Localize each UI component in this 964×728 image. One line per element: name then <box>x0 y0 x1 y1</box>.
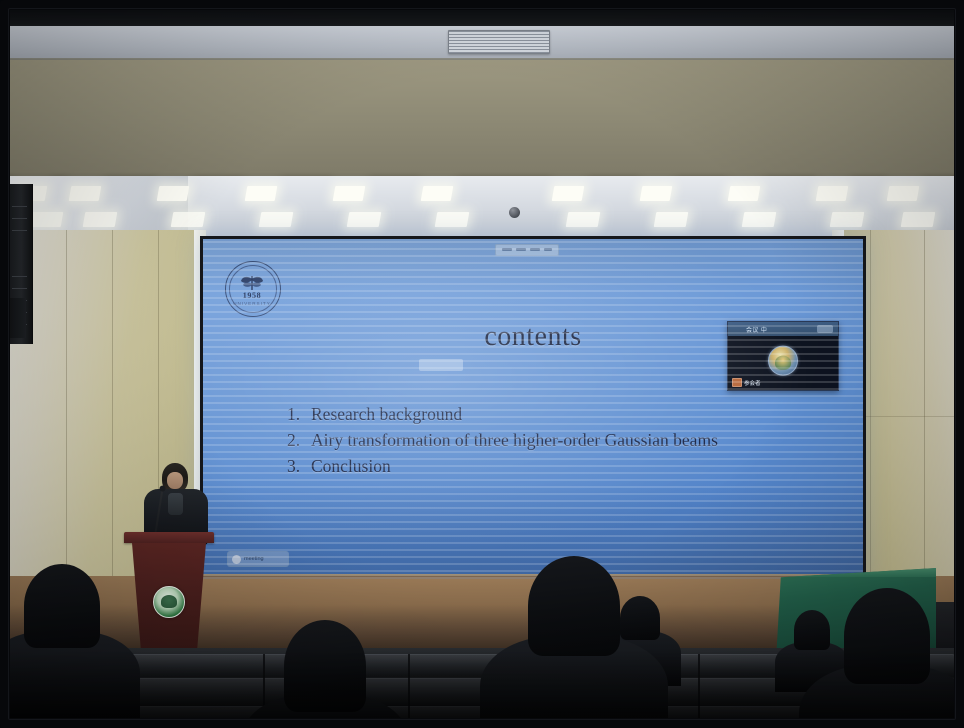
podium <box>126 532 212 650</box>
ceiling-light-panel <box>654 212 689 227</box>
slide-contents-list: 1.Research background2.Airy transformati… <box>287 401 847 479</box>
slide-list-item-text: Conclusion <box>311 453 391 479</box>
slide-list-item-text: Airy transformation of three higher-orde… <box>311 427 718 453</box>
taskbar-app-icon <box>232 555 241 564</box>
slide-list-item-number: 1. <box>287 401 311 427</box>
projection-screen: 1958 UNIVERSITY contents 1.Research back… <box>200 236 866 582</box>
ceiling-light-panel <box>887 186 920 201</box>
ceiling-light-panel <box>435 212 470 227</box>
auditorium-room: 1958 UNIVERSITY contents 1.Research back… <box>8 8 956 720</box>
ceiling-light-panel <box>901 212 936 227</box>
pip-video-area[interactable]: 参会者 <box>728 336 838 390</box>
slide-list-item: 1.Research background <box>287 401 847 427</box>
audience-head <box>844 588 930 684</box>
ceiling-light-panel <box>259 212 294 227</box>
pip-badge-icon <box>732 378 742 387</box>
presentation-toolbar[interactable] <box>495 244 559 256</box>
pip-participant-label: 参会者 <box>732 378 761 387</box>
slide-list-item-number: 3. <box>287 453 311 479</box>
presenter <box>142 463 212 543</box>
ceiling-light-panel <box>245 186 278 201</box>
taskbar-chip-label: meeting <box>244 556 264 562</box>
audience-head <box>620 596 660 640</box>
avatar <box>768 346 798 376</box>
ceiling-light-panel <box>640 186 673 201</box>
seal-arc-text: UNIVERSITY <box>225 301 279 306</box>
upper-wall <box>8 60 956 180</box>
pip-participant-name: 参会者 <box>744 379 761 387</box>
slide-list-item-number: 2. <box>287 427 311 453</box>
ceiling-light-panel <box>830 212 865 227</box>
ceiling-light-panel <box>333 186 366 201</box>
air-vent-icon <box>448 30 550 54</box>
ceiling-light-panel <box>742 212 777 227</box>
wall-equipment-icon <box>8 298 26 338</box>
ceiling-light-panel <box>566 212 601 227</box>
pip-title-bar[interactable]: 会议 中 <box>728 322 838 336</box>
university-seal-icon: 1958 UNIVERSITY <box>225 261 279 315</box>
audience-head <box>24 564 100 648</box>
pip-window-controls-icon[interactable] <box>817 325 833 333</box>
podium-emblem-icon <box>153 586 185 618</box>
ceiling-sensor-icon <box>509 207 520 218</box>
slide-placeholder-box <box>419 359 463 371</box>
taskbar-chip[interactable]: meeting <box>227 551 289 567</box>
ceiling-light-panel <box>29 212 64 227</box>
ceiling-light-panel <box>171 212 206 227</box>
ceiling-light-panel <box>552 186 585 201</box>
ceiling-light-panel <box>347 212 382 227</box>
video-conference-window[interactable]: 会议 中 参会者 <box>727 321 839 391</box>
ceiling-light-panel <box>421 186 454 201</box>
seal-emblem-icon <box>238 273 266 293</box>
slide-list-item: 3.Conclusion <box>287 453 847 479</box>
screen-surface: 1958 UNIVERSITY contents 1.Research back… <box>203 239 863 579</box>
audience-head <box>528 556 620 656</box>
pip-title: 会议 中 <box>746 325 767 334</box>
ceiling-light-panel <box>69 186 102 201</box>
audience-head <box>284 620 366 712</box>
photograph: 1958 UNIVERSITY contents 1.Research back… <box>0 0 964 728</box>
slide-list-item: 2.Airy transformation of three higher-or… <box>287 427 847 453</box>
ceiling-light-panel <box>157 186 190 201</box>
slide-list-item-text: Research background <box>311 401 462 427</box>
ceiling-light-panel <box>728 186 761 201</box>
ceiling-light-panel <box>83 212 118 227</box>
ceiling-light-panel <box>816 186 849 201</box>
audience-head <box>794 610 830 650</box>
seal-year: 1958 <box>225 291 279 300</box>
presentation-slide: 1958 UNIVERSITY contents 1.Research back… <box>203 239 863 579</box>
